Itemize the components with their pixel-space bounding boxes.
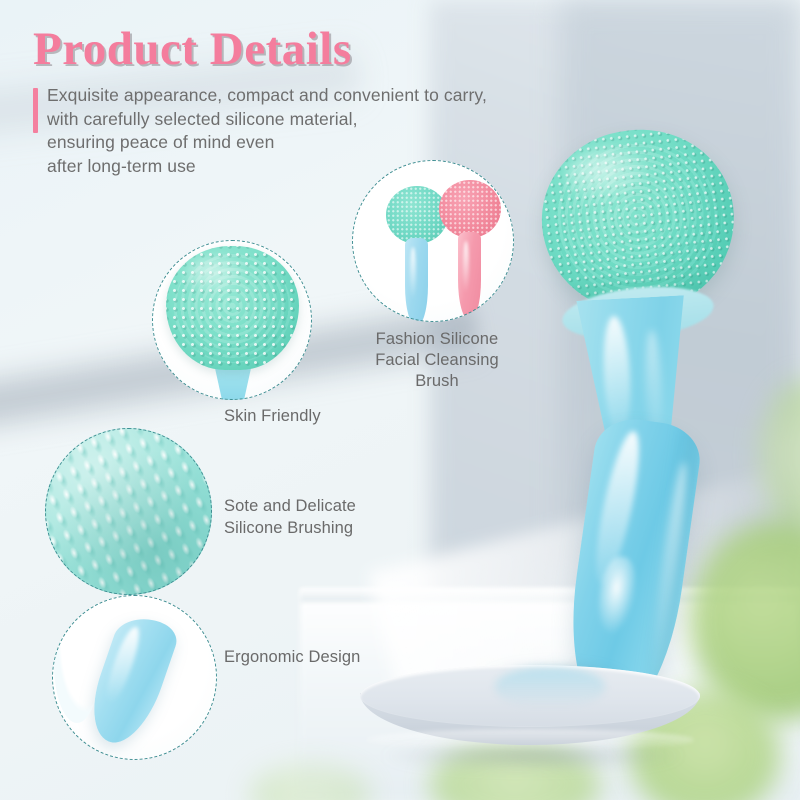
inset-brush-teal-highlight [410,247,416,300]
label-line-1: Ergonomic Design [224,647,360,668]
label-line-1: Sote and Delicate [224,495,356,517]
accent-bar [33,88,38,133]
inset-ergonomic-curve [54,605,100,723]
inset-brush-pink-highlight [463,241,469,294]
callout-skin-friendly-inset [152,240,312,400]
inset-bristle-shading [45,428,212,595]
inset-ergonomic-highlight [101,625,145,704]
description-block: Exquisite appearance, compact and conven… [33,84,463,178]
pedestal-shine [366,729,694,751]
inset-brush-pink-handle [458,232,481,320]
inset-skin-highlight [185,256,249,293]
callout-label-fashion-silicone: Fashion Silicone Facial Cleansing Brush [357,329,517,392]
inset-brush-teal-handle [405,238,428,322]
label-line-2: Silicone Brushing [224,517,356,539]
description-line-1: Exquisite appearance, compact and conven… [47,84,463,108]
inset-brush-pink-bristles [439,180,501,238]
label-line-1: Skin Friendly [224,406,321,427]
product-reflection [495,668,605,708]
callout-label-ergonomic-design: Ergonomic Design [224,647,360,668]
inset-brush-pink-head [439,180,501,238]
label-line-1: Fashion Silicone [357,329,517,350]
callout-bristle-macro-inset [45,428,212,595]
callout-label-silicone-brushing: Sote and Delicate Silicone Brushing [224,495,356,539]
label-line-2: Facial Cleansing [357,350,517,371]
product-detail-image: Product Details Exquisite appearance, co… [0,0,800,800]
callout-label-skin-friendly: Skin Friendly [224,406,321,427]
callout-ergonomic-inset [52,595,217,760]
main-product-brush [470,120,760,720]
callout-two-brush-inset [352,160,514,322]
description-line-3: ensuring peace of mind even [47,131,463,155]
description-line-2: with carefully selected silicone materia… [47,108,463,132]
label-line-3: Brush [357,371,517,392]
description-text: Exquisite appearance, compact and conven… [47,84,463,178]
page-title: Product Details [33,22,352,76]
inset-skin-head [166,246,299,370]
